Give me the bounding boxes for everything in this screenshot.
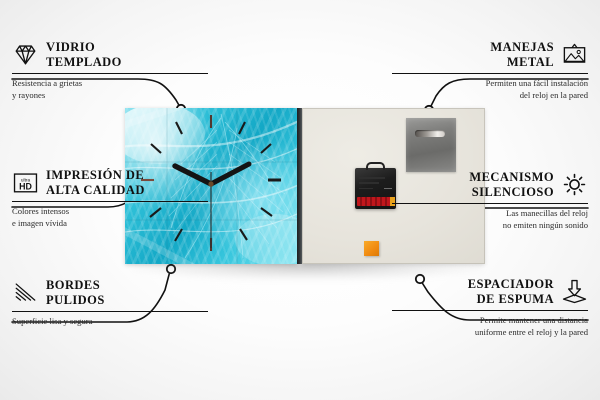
feature-title: ESPACIADOR DE ESPUMA: [468, 277, 554, 306]
feature-description: Las manecillas del reloj no emiten ningú…: [392, 208, 588, 231]
feature-title: BORDES PULIDOS: [46, 278, 105, 307]
feature-title: IMPRESIÓN DE ALTA CALIDAD: [46, 168, 145, 197]
feature-title: MANEJAS METAL: [490, 40, 554, 69]
minute-hand: [211, 164, 249, 184]
feature-espaciador-espuma: ESPACIADOR DE ESPUMA Permite mantener un…: [392, 277, 588, 338]
feature-divider: [392, 73, 588, 74]
feature-description: Permite mantener una distancia uniforme …: [392, 315, 588, 338]
feature-title: MECANISMO SILENCIOSO: [469, 170, 554, 199]
feature-impresion-alta-calidad: ultra HD IMPRESIÓN DE ALTA CALIDAD Color…: [12, 168, 208, 229]
foam-spacer: [364, 241, 379, 256]
feature-bordes-pulidos: BORDES PULIDOS Superficie lisa y segura: [12, 278, 208, 328]
battery-compartment: [357, 197, 393, 206]
feature-divider: [392, 310, 588, 311]
mechanism-hook: [366, 162, 385, 170]
diamond-icon: [12, 41, 39, 68]
feature-description: Colores intensos e imagen vívida: [12, 206, 208, 229]
infographic-canvas: VIDRIO TEMPLADO Resistencia a grietas y …: [0, 0, 600, 400]
feature-description: Resistencia a grietas y rayones: [12, 78, 208, 101]
feature-mecanismo-silencioso: MECANISMO SILENCIOSO Las manecillas del …: [392, 170, 588, 231]
ultra-hd-icon: ultra HD: [12, 169, 39, 196]
feature-description: Permiten una fácil instalación del reloj…: [392, 78, 588, 101]
feature-title: VIDRIO TEMPLADO: [46, 40, 122, 69]
mechanism-detail: [359, 182, 379, 184]
mechanism-detail: [384, 188, 392, 189]
hanger-keyhole-slot: [415, 130, 445, 137]
feature-description: Superficie lisa y segura: [12, 316, 208, 327]
feature-vidrio-templado: VIDRIO TEMPLADO Resistencia a grietas y …: [12, 40, 208, 101]
picture-frame-icon: [561, 41, 588, 68]
feature-manejas-metal: MANEJAS METAL Permiten una fácil instala…: [392, 40, 588, 101]
feature-divider: [392, 203, 588, 204]
polished-edge-icon: [12, 279, 39, 306]
feature-divider: [12, 311, 208, 312]
metal-hanger-plate: [406, 118, 456, 172]
gear-icon: [561, 171, 588, 198]
mechanism-detail: [359, 177, 385, 179]
svg-text:HD: HD: [19, 181, 32, 191]
clock-mechanism: [355, 168, 396, 209]
hand-cap: [208, 181, 213, 186]
press-down-foam-icon: [561, 278, 588, 305]
feature-divider: [12, 201, 208, 202]
feature-divider: [12, 73, 208, 74]
mechanism-detail: [359, 188, 373, 189]
